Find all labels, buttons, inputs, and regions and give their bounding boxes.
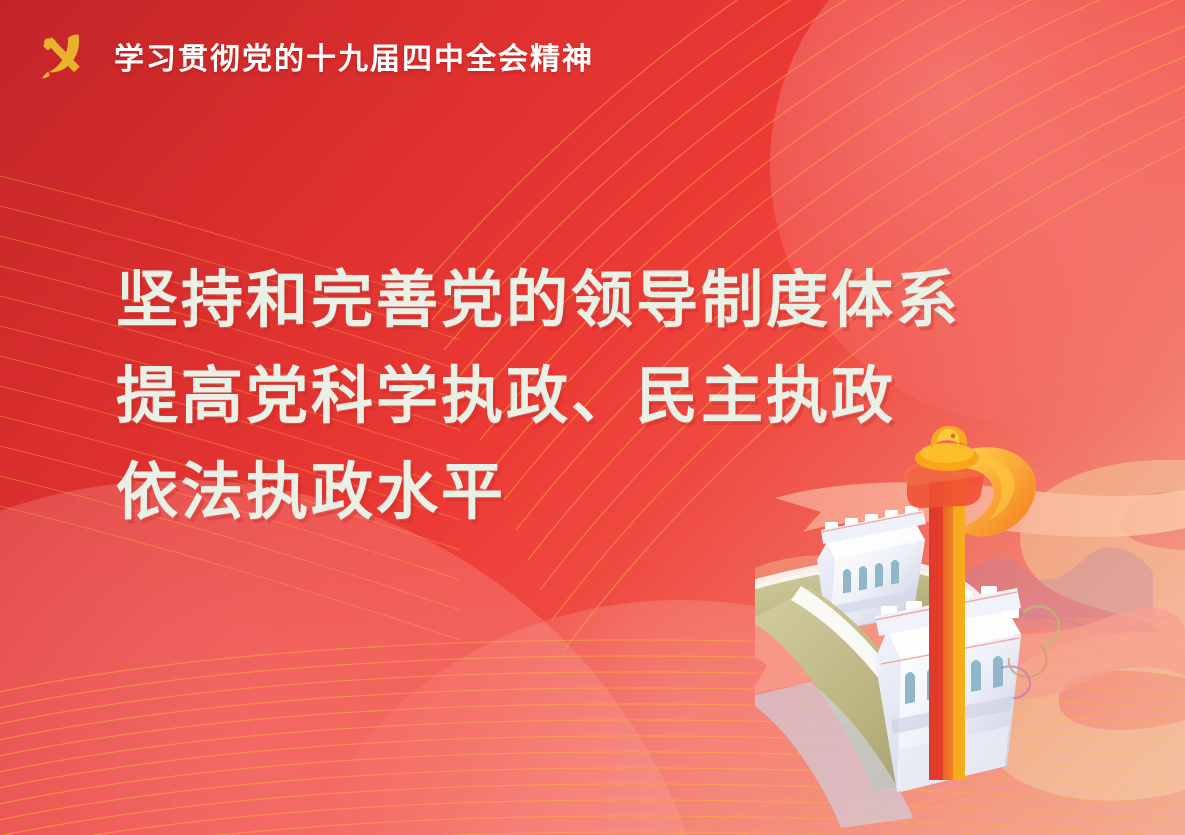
- hammer-and-sickle-icon: [36, 28, 92, 84]
- poster-canvas: 学习贯彻党的十九届四中全会精神 坚持和完善党的领导制度体系 提高党科学执政、民主…: [0, 0, 1185, 835]
- headline-line-1: 坚持和完善党的领导制度体系: [116, 252, 961, 348]
- header-title: 学习贯彻党的十九届四中全会精神: [114, 34, 594, 78]
- header-bar: 学习贯彻党的十九届四中全会精神: [0, 0, 1185, 112]
- headline-line-2: 提高党科学执政、民主执政: [116, 348, 961, 444]
- headline-block: 坚持和完善党的领导制度体系 提高党科学执政、民主执政 依法执政水平: [116, 252, 961, 540]
- headline-line-3: 依法执政水平: [116, 444, 961, 540]
